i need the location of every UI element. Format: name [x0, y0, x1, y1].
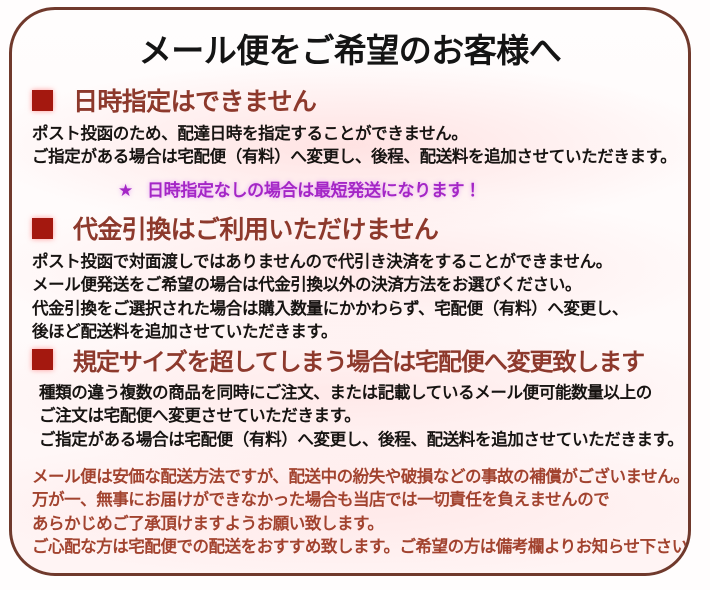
- shipping-notice-card: メール便をご希望のお客様へ 日時指定はできません ポスト投函のため、配達日時を指…: [9, 7, 691, 576]
- page-title: メール便をご希望のお客様へ: [12, 24, 688, 72]
- body-line: 代金引換をご選択された場合は購入数量にかかわらず、宅配便（有料）へ変更し、: [32, 297, 688, 320]
- notice-section-size-limit: 規定サイズを超してしまう場合は宅配便へ変更致します 種類の違う複数の商品を同時に…: [12, 342, 688, 451]
- square-bullet-icon: [32, 218, 53, 239]
- section-body: 種類の違う複数の商品を同時にご注文、または記載しているメール便可能数量以上の ご…: [12, 381, 688, 451]
- section-title: 日時指定はできません: [73, 82, 316, 118]
- notice-section-date-designation: 日時指定はできません ポスト投函のため、配達日時を指定することができません。 ご…: [12, 82, 688, 201]
- square-bullet-icon: [32, 90, 53, 111]
- section-header: 代金引換はご利用いただけません: [12, 210, 688, 246]
- footer-warning-text: メール便は安価な配送方法ですが、配送中の紛失や破損などの事故の補償がございません…: [12, 465, 688, 559]
- body-line: メール便発送をご希望の場合は代金引換以外の決済方法をお選びください。: [32, 273, 688, 296]
- section-title: 代金引換はご利用いただけません: [73, 210, 438, 246]
- body-line: ご指定がある場合は宅配便（有料）へ変更し、後程、配送料を追加させていただきます。: [32, 145, 688, 168]
- section-header: 規定サイズを超してしまう場合は宅配便へ変更致します: [12, 342, 688, 377]
- body-line: ポスト投函のため、配達日時を指定することができません。: [32, 122, 688, 145]
- star-note-text: 日時指定なしの場合は最短発送になります！: [147, 181, 481, 201]
- section-body: ポスト投函のため、配達日時を指定することができません。 ご指定がある場合は宅配便…: [12, 122, 688, 169]
- body-line: メール便は安価な配送方法ですが、配送中の紛失や破損などの事故の補償がございません…: [32, 465, 688, 488]
- body-line: 万が一、無事にお届けができなかった場合も当店では一切責任を負えませんので: [32, 488, 688, 511]
- star-icon: ★: [118, 181, 133, 201]
- body-line: 後ほど配送料を追加させていただきます。: [32, 320, 688, 343]
- section-header: 日時指定はできません: [12, 82, 688, 118]
- square-bullet-icon: [32, 349, 53, 370]
- notice-section-cash-on-delivery: 代金引換はご利用いただけません ポスト投函で対面渡しではありませんので代引き決済…: [12, 210, 688, 344]
- body-line: ご注文は宅配便へ変更させていただきます。: [39, 404, 688, 427]
- body-line: 種類の違う複数の商品を同時にご注文、または記載しているメール便可能数量以上の: [39, 381, 688, 404]
- section-body: ポスト投函で対面渡しではありませんので代引き決済をすることができません。 メール…: [12, 250, 688, 344]
- star-highlight-note: ★日時指定なしの場合は最短発送になります！: [12, 176, 688, 201]
- section-title: 規定サイズを超してしまう場合は宅配便へ変更致します: [73, 342, 644, 377]
- body-line: ご心配な方は宅配便での配送をおすすめ致します。ご希望の方は備考欄よりお知らせ下さ…: [32, 535, 688, 558]
- body-line: あらかじめご了承頂けますようお願い致します。: [32, 512, 688, 535]
- body-line: ポスト投函で対面渡しではありませんので代引き決済をすることができません。: [32, 250, 688, 273]
- body-line: ご指定がある場合は宅配便（有料）へ変更し、後程、配送料を追加させていただきます。: [39, 428, 688, 451]
